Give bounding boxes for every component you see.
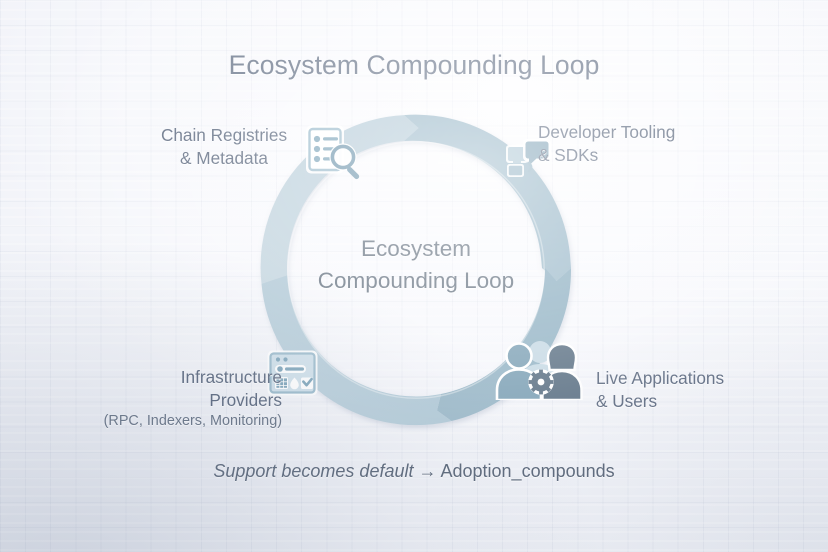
slide-canvas: Ecosystem Compounding Loop Chain Registr… — [0, 0, 828, 552]
vignette-overlay — [0, 0, 828, 552]
